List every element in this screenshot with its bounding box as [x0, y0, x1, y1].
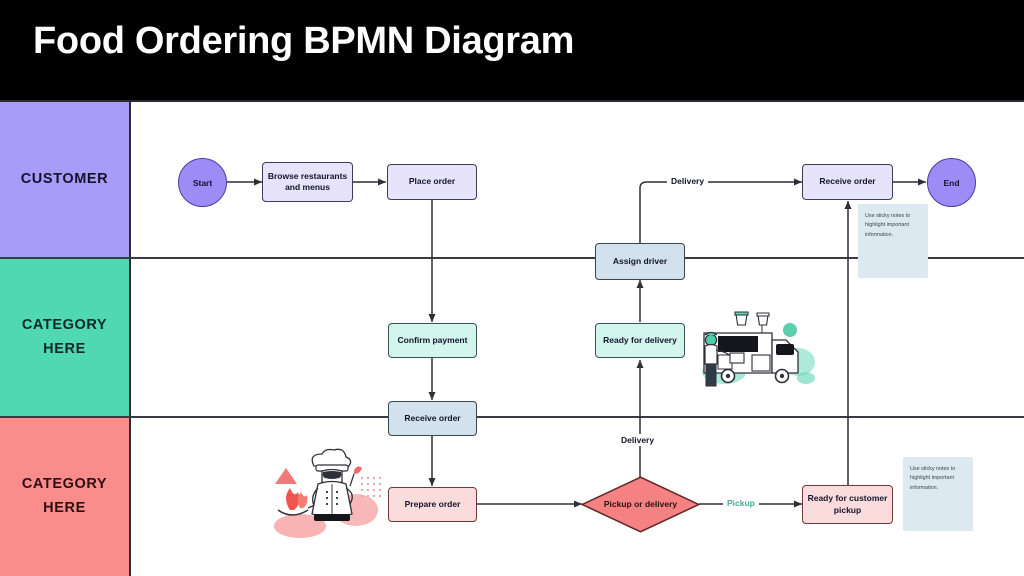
end-event[interactable]: End — [927, 158, 976, 207]
task-browse-restaurants[interactable]: Browse restaurants and menus — [262, 162, 353, 202]
delivery-van-illustration — [694, 300, 822, 396]
page-title: Food Ordering BPMN Diagram — [33, 20, 574, 63]
lane-label-customer: CUSTOMER — [0, 101, 131, 258]
lane-divider-2 — [0, 416, 1024, 418]
chef-cooking-illustration — [270, 448, 388, 542]
gateway-pickup-or-delivery[interactable]: Pickup or delivery — [581, 476, 700, 533]
edge-label-delivery-top: Delivery — [667, 175, 708, 187]
sticky-note-top[interactable]: Use sticky notes to highlight important … — [858, 204, 928, 278]
task-place-order[interactable]: Place order — [387, 164, 477, 200]
lane-label-category-1: CATEGORY HERE — [0, 258, 131, 417]
task-receive-order-customer[interactable]: Receive order — [802, 164, 893, 200]
sticky-note-bottom[interactable]: Use sticky notes to highlight important … — [903, 457, 973, 531]
task-confirm-payment[interactable]: Confirm payment — [388, 323, 477, 358]
start-event[interactable]: Start — [178, 158, 227, 207]
edge-label-delivery-gateway: Delivery — [617, 434, 658, 446]
task-ready-for-delivery[interactable]: Ready for delivery — [595, 323, 685, 358]
lane-label-category-2: CATEGORY HERE — [0, 417, 131, 576]
task-prepare-order[interactable]: Prepare order — [388, 487, 477, 522]
task-assign-driver[interactable]: Assign driver — [595, 243, 685, 280]
header-bar: Food Ordering BPMN Diagram — [0, 0, 1024, 101]
bpmn-diagram-page: Food Ordering BPMN Diagram CUSTOMER CATE… — [0, 0, 1024, 576]
edge-label-pickup: Pickup — [723, 497, 759, 509]
gateway-label: Pickup or delivery — [604, 499, 677, 510]
task-receive-order-kitchen[interactable]: Receive order — [388, 401, 477, 436]
task-ready-for-customer-pickup[interactable]: Ready for customer pickup — [802, 485, 893, 524]
lane-divider-top — [0, 100, 1024, 102]
